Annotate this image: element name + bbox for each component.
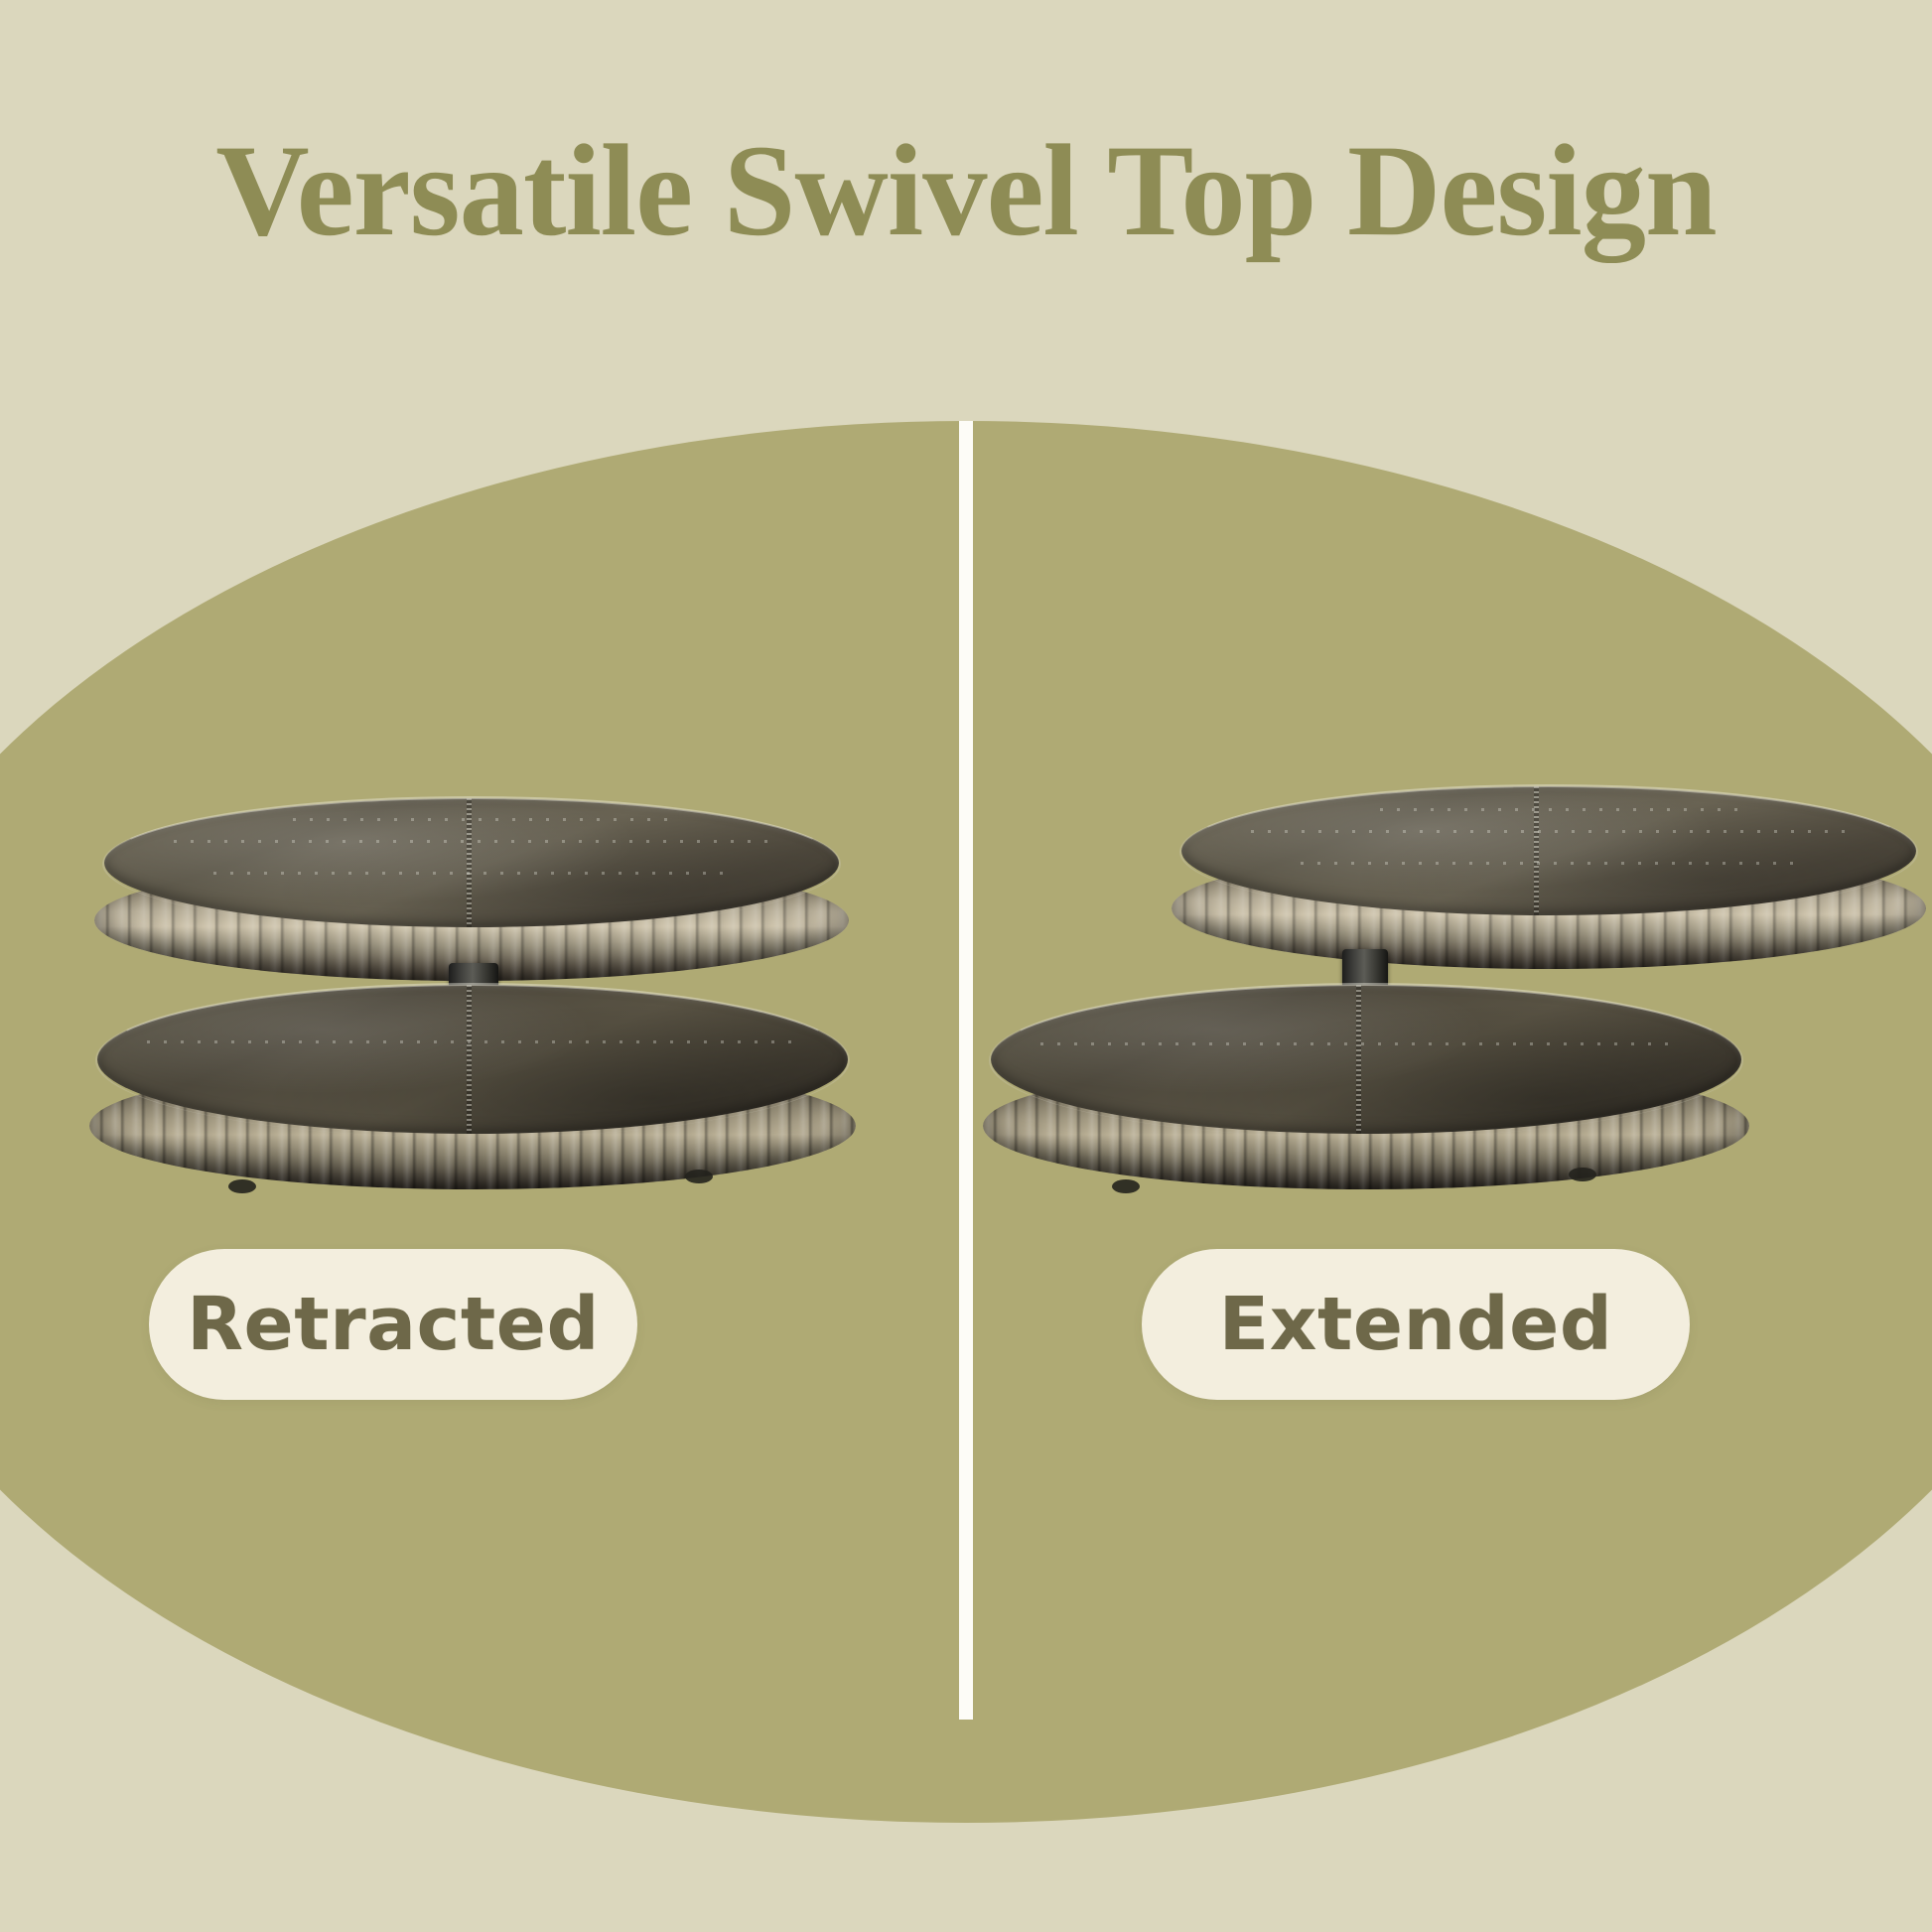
base-disc-surface (97, 985, 848, 1134)
top-disc-surface (1181, 786, 1916, 915)
base-disc (983, 985, 1749, 1195)
base-disc-rivet-row (147, 1040, 792, 1043)
marketing-image: Versatile Swivel Top Design (0, 0, 1932, 1932)
comparison-panel-retracted: Retracted (0, 421, 959, 1823)
base-disc-center-seam (467, 985, 472, 1134)
comparison-panel-extended: Extended (973, 421, 1932, 1823)
page-title: Versatile Swivel Top Design (10, 125, 1923, 256)
base-foot (685, 1170, 713, 1183)
base-disc-center-seam (1356, 985, 1361, 1134)
swivel-top-disc (1172, 786, 1926, 985)
base-foot (228, 1179, 256, 1193)
caption-label-retracted: Retracted (187, 1282, 600, 1367)
base-foot (1112, 1179, 1140, 1193)
base-foot (1569, 1168, 1596, 1181)
top-disc-surface (104, 798, 839, 927)
base-disc-rivet-row (1040, 1042, 1676, 1045)
caption-label-extended: Extended (1219, 1282, 1613, 1367)
product-image-retracted (60, 798, 884, 1215)
top-disc-rivet-row (1251, 830, 1847, 833)
comparison-divider (959, 421, 973, 1720)
base-disc-surface (991, 985, 1741, 1134)
product-image-extended (973, 798, 1916, 1215)
top-disc-rivet-row (174, 840, 769, 843)
top-disc-center-seam (1534, 786, 1539, 915)
caption-pill-retracted: Retracted (149, 1249, 637, 1400)
top-disc-rivet-row (293, 818, 670, 821)
base-disc (89, 985, 856, 1195)
top-disc-rivet-row (1380, 808, 1747, 811)
top-disc-rivet-row (1301, 862, 1797, 865)
top-disc-rivet-row (213, 872, 730, 875)
caption-pill-extended: Extended (1142, 1249, 1690, 1400)
